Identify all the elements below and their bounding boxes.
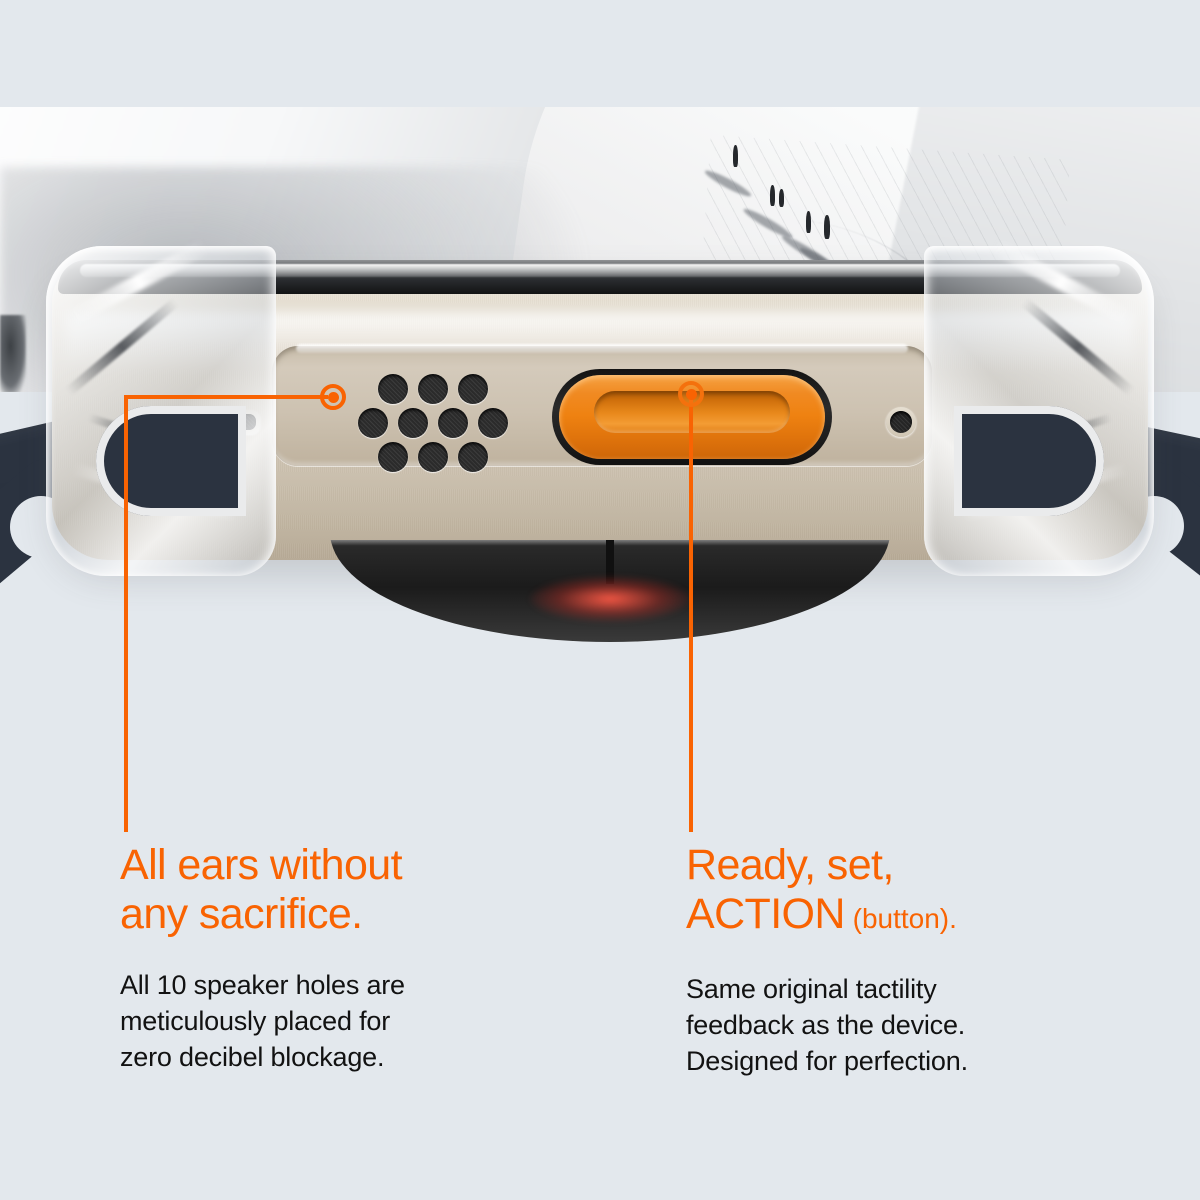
clear-case-band-cutout-left	[96, 406, 246, 516]
shell-highlight	[991, 240, 1131, 325]
callout-text-speaker: All ears without any sacrifice. All 10 s…	[120, 841, 590, 1075]
shell-highlight	[69, 240, 209, 325]
microphone-hole	[886, 407, 916, 437]
speaker-body: All 10 speaker holes are meticulously pl…	[120, 967, 590, 1075]
speaker-hole	[418, 374, 448, 404]
callout-line-action-vertical	[689, 394, 693, 832]
speaker-hole	[438, 408, 468, 438]
speaker-hole	[378, 374, 408, 404]
speaker-headline: All ears without any sacrifice.	[120, 841, 590, 939]
action-body: Same original tactility feedback as the …	[686, 971, 1166, 1079]
speaker-holes-marker[interactable]	[320, 384, 346, 410]
hiker-figure	[806, 211, 811, 233]
speaker-hole	[358, 408, 388, 438]
callout-text-action: Ready, set, ACTION (button). Same origin…	[686, 841, 1166, 1079]
callout-line-speaker-vertical	[124, 395, 128, 832]
speaker-hole	[418, 442, 448, 472]
hiker-figure	[824, 215, 830, 239]
sensor-bulge-region	[330, 540, 890, 650]
action-headline: Ready, set, ACTION (button).	[686, 841, 1166, 943]
speaker-hole	[458, 374, 488, 404]
action-headline-small: (button).	[845, 903, 957, 934]
callout-line-speaker-horizontal	[126, 395, 328, 399]
clear-case-band-cutout-right	[954, 406, 1104, 516]
hiker-figure	[779, 189, 784, 207]
hiker-figure	[733, 145, 738, 167]
microphone-mesh	[890, 411, 912, 433]
speaker-hole	[378, 442, 408, 472]
speaker-hole	[398, 408, 428, 438]
hiker-figure	[770, 185, 775, 206]
panel-top-highlight	[296, 344, 908, 353]
sensor-led-glow	[530, 576, 690, 622]
action-button-marker[interactable]	[678, 381, 704, 407]
smartwatch-with-case	[0, 246, 1200, 646]
product-feature-slide: All ears without any sacrifice. All 10 s…	[0, 0, 1200, 1200]
speaker-hole	[458, 442, 488, 472]
speaker-hole	[478, 408, 508, 438]
